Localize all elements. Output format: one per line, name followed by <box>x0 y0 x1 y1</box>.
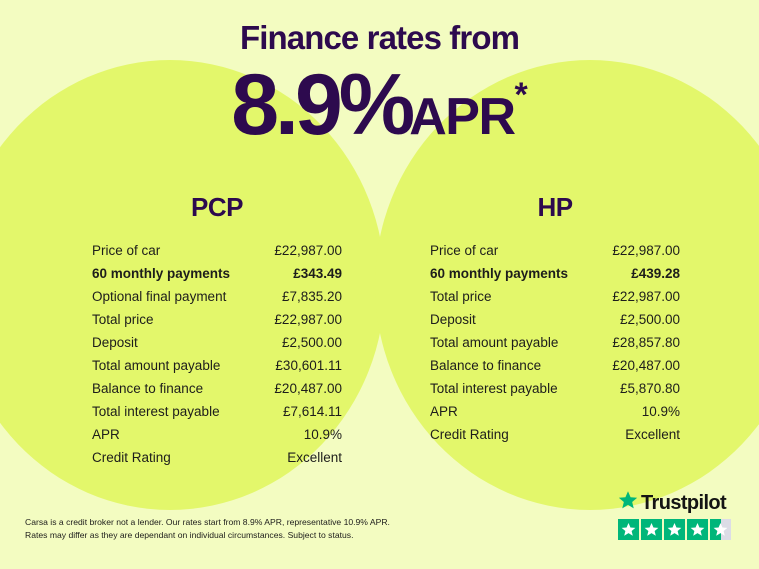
row-label: Balance to finance <box>92 377 203 400</box>
row-label: Deposit <box>92 331 138 354</box>
table-row: Total interest payable£5,870.80 <box>430 377 680 400</box>
trustpilot-rating-stars <box>618 519 738 540</box>
trustpilot-star-icon <box>687 519 708 540</box>
table-row: Deposit£2,500.00 <box>430 308 680 331</box>
row-value: £7,614.11 <box>283 400 342 423</box>
row-value: £20,487.00 <box>612 354 680 377</box>
row-value: £28,857.80 <box>612 331 680 354</box>
table-row: Deposit£2,500.00 <box>92 331 342 354</box>
table-row: Credit RatingExcellent <box>92 446 342 469</box>
row-value: 10.9% <box>642 400 680 423</box>
row-value: £22,987.00 <box>274 239 342 262</box>
trustpilot-wordmark-text: Trustpilot <box>641 493 726 513</box>
table-row: 60 monthly payments£439.28 <box>430 262 680 285</box>
finance-rows-pcp: Price of car£22,987.0060 monthly payment… <box>67 239 367 469</box>
row-value: £2,500.00 <box>620 308 680 331</box>
row-label: Total interest payable <box>430 377 558 400</box>
disclaimer-line-2: Rates may differ as they are dependant o… <box>25 529 445 542</box>
row-label: Deposit <box>430 308 476 331</box>
row-label: Balance to finance <box>430 354 541 377</box>
rate-value: 8.9% <box>231 62 411 148</box>
table-row: Credit RatingExcellent <box>430 423 680 446</box>
trustpilot-logo: Trustpilot <box>618 490 738 515</box>
table-row: Balance to finance£20,487.00 <box>430 354 680 377</box>
row-value: £439.28 <box>631 262 680 285</box>
row-label: Total amount payable <box>430 331 558 354</box>
row-label: APR <box>92 423 120 446</box>
disclaimer-line-1: Carsa is a credit broker not a lender. O… <box>25 516 445 529</box>
row-value: £20,487.00 <box>274 377 342 400</box>
table-row: APR10.9% <box>430 400 680 423</box>
finance-rows-hp: Price of car£22,987.0060 monthly payment… <box>405 239 705 446</box>
table-row: Price of car£22,987.00 <box>92 239 342 262</box>
table-row: 60 monthly payments£343.49 <box>92 262 342 285</box>
row-label: APR <box>430 400 458 423</box>
table-row: Total price£22,987.00 <box>430 285 680 308</box>
table-row: Price of car£22,987.00 <box>430 239 680 262</box>
header: Finance rates from 8.9% APR * <box>0 18 759 148</box>
page-title: Finance rates from <box>0 18 759 58</box>
table-row: Total amount payable£30,601.11 <box>92 354 342 377</box>
row-value: £2,500.00 <box>282 331 342 354</box>
row-value: £22,987.00 <box>274 308 342 331</box>
row-value: £22,987.00 <box>612 239 680 262</box>
row-value: £5,870.80 <box>620 377 680 400</box>
table-row: APR10.9% <box>92 423 342 446</box>
trustpilot-widget[interactable]: Trustpilot <box>618 490 738 540</box>
product-title-pcp: PCP <box>67 192 367 223</box>
trustpilot-star-icon <box>664 519 685 540</box>
trustpilot-star-icon <box>710 519 731 540</box>
row-value: £7,835.20 <box>282 285 342 308</box>
finance-table-hp: HP Price of car£22,987.0060 monthly paym… <box>405 192 705 446</box>
rate-unit-label: APR <box>409 91 514 143</box>
row-value: Excellent <box>287 446 342 469</box>
table-row: Total amount payable£28,857.80 <box>430 331 680 354</box>
disclaimer: Carsa is a credit broker not a lender. O… <box>25 516 445 542</box>
trustpilot-star-icon <box>618 519 639 540</box>
trustpilot-star-icon <box>618 490 638 515</box>
finance-table-pcp: PCP Price of car£22,987.0060 monthly pay… <box>67 192 367 469</box>
row-value: £30,601.11 <box>275 354 342 377</box>
row-value: 10.9% <box>304 423 342 446</box>
headline-rate: 8.9% APR * <box>0 62 759 148</box>
row-value: Excellent <box>625 423 680 446</box>
row-value: £343.49 <box>293 262 342 285</box>
table-row: Total interest payable£7,614.11 <box>92 400 342 423</box>
row-label: Optional final payment <box>92 285 226 308</box>
row-label: Total price <box>430 285 492 308</box>
rate-asterisk: * <box>515 78 528 112</box>
row-label: Total amount payable <box>92 354 220 377</box>
row-label: Price of car <box>430 239 498 262</box>
row-label: Total price <box>92 308 154 331</box>
row-label: Total interest payable <box>92 400 220 423</box>
row-value: £22,987.00 <box>612 285 680 308</box>
row-label: 60 monthly payments <box>92 262 230 285</box>
table-row: Total price£22,987.00 <box>92 308 342 331</box>
trustpilot-star-icon <box>641 519 662 540</box>
row-label: Credit Rating <box>430 423 509 446</box>
finance-rates-banner: Finance rates from 8.9% APR * PCP Price … <box>0 0 759 569</box>
table-row: Optional final payment£7,835.20 <box>92 285 342 308</box>
product-title-hp: HP <box>405 192 705 223</box>
row-label: Price of car <box>92 239 160 262</box>
row-label: 60 monthly payments <box>430 262 568 285</box>
table-row: Balance to finance£20,487.00 <box>92 377 342 400</box>
row-label: Credit Rating <box>92 446 171 469</box>
